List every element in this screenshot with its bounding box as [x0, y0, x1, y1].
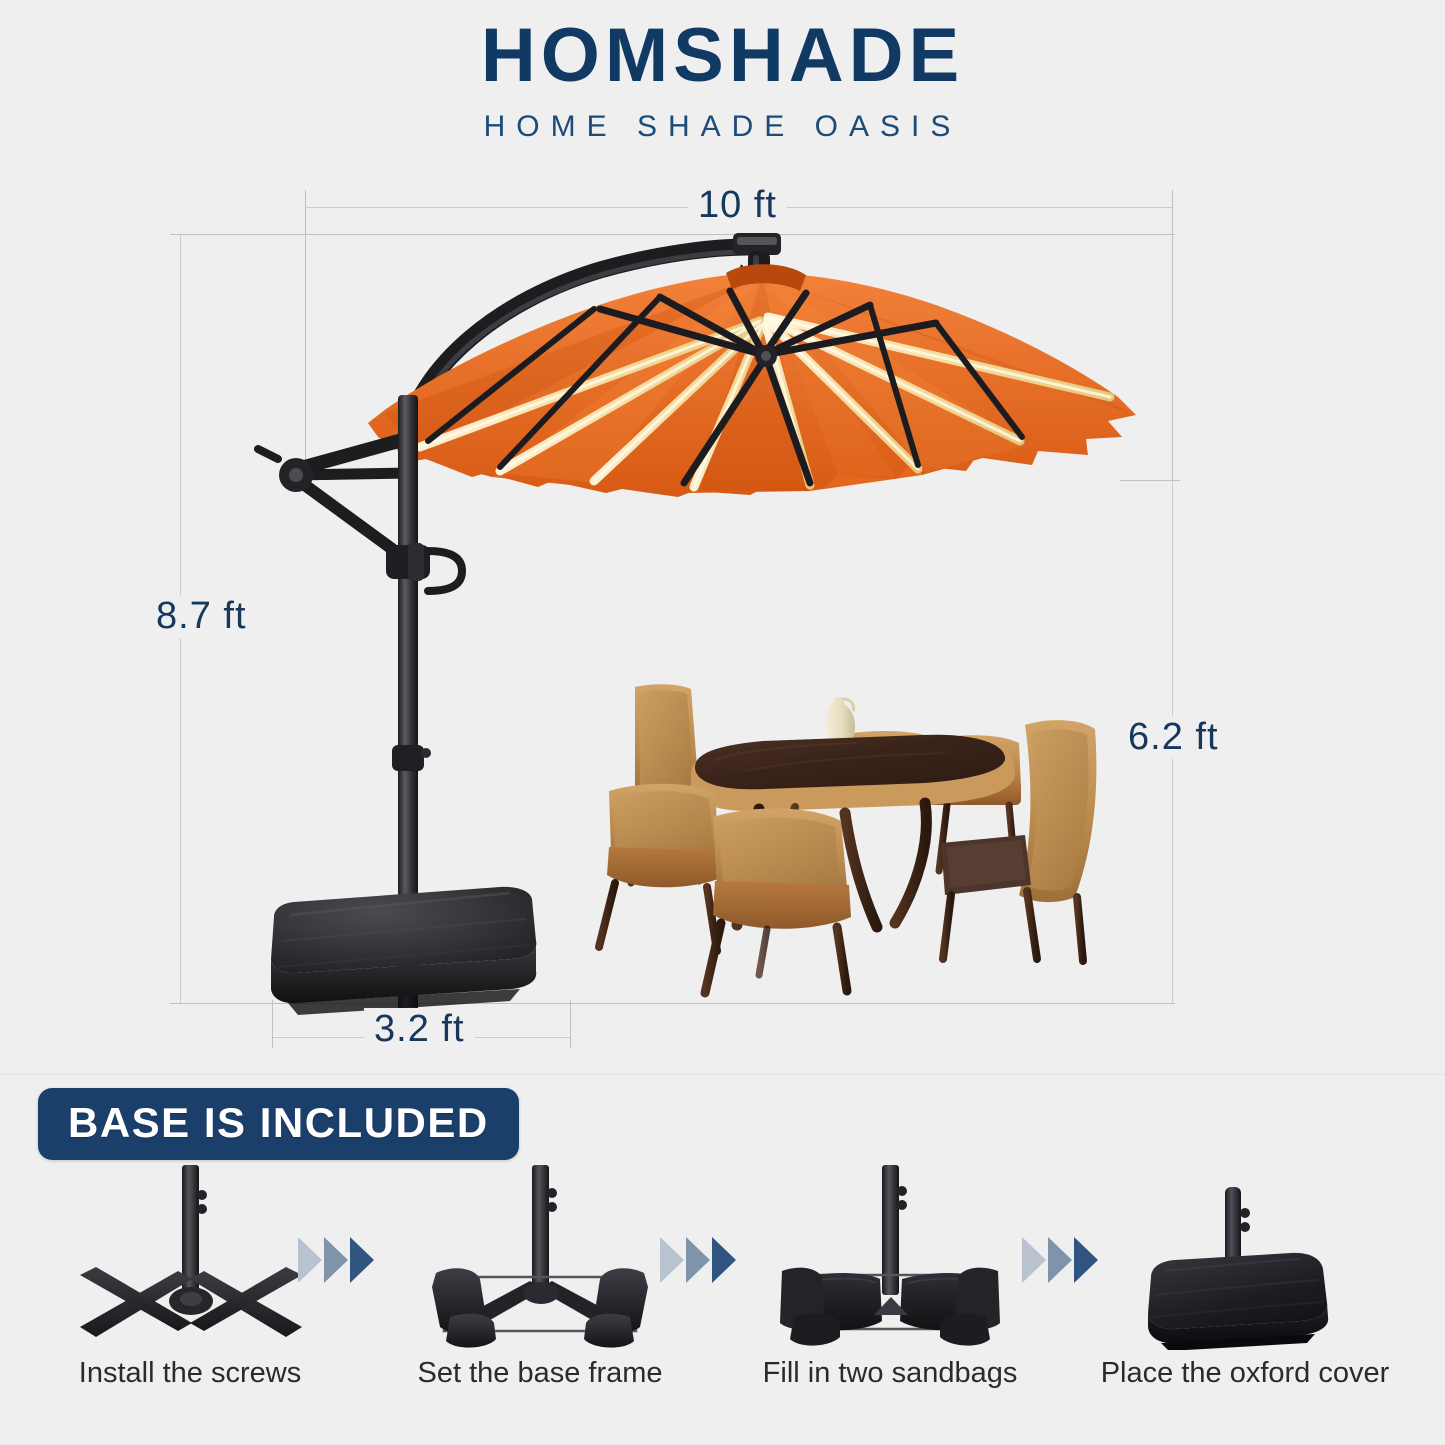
chair-front-center — [705, 808, 851, 993]
chevron-icon-c — [350, 1237, 374, 1283]
chevron-icon-a — [660, 1237, 684, 1283]
assembly-steps: Install the screws — [0, 1165, 1445, 1425]
dim-label-bottom: 3.2 ft — [364, 1008, 475, 1051]
chevron-icon-a — [1022, 1237, 1046, 1283]
umbrella-base — [271, 887, 562, 1015]
step-2: Set the base frame — [390, 1165, 690, 1425]
table-leg-right — [895, 803, 926, 923]
brand-tagline: HOME SHADE OASIS — [0, 110, 1445, 144]
step-3-label: Fill in two sandbags — [740, 1357, 1040, 1390]
base-frame-assembled-icon — [390, 1165, 690, 1350]
chair-front-left — [599, 784, 723, 951]
umbrella-height-collar — [392, 745, 431, 771]
oxford-cover-icon — [1095, 1165, 1395, 1350]
step-2-corner-bl — [446, 1314, 496, 1348]
step-3-art — [740, 1165, 1040, 1350]
step-1-label: Install the screws — [40, 1357, 340, 1390]
step-2-label: Set the base frame — [390, 1357, 690, 1390]
product-infographic: HOMSHADE HOME SHADE OASIS — [0, 0, 1445, 1445]
base-included-badge: BASE IS INCLUDED — [38, 1088, 519, 1160]
brand-name: HOMSHADE — [0, 18, 1445, 94]
chevron-icon-b — [324, 1237, 348, 1283]
step-4-label: Place the oxford cover — [1095, 1357, 1395, 1390]
dining-set-svg — [595, 675, 1155, 1005]
brand-header: HOMSHADE HOME SHADE OASIS — [0, 18, 1445, 144]
section-divider — [0, 1074, 1445, 1075]
chevron-icon-c — [712, 1237, 736, 1283]
dim-label-top: 10 ft — [688, 184, 787, 227]
step-2-art — [390, 1165, 690, 1350]
cross-base-frame-icon — [40, 1165, 340, 1350]
step-3: Fill in two sandbags — [740, 1165, 1040, 1425]
base-included-label: BASE IS INCLUDED — [68, 1102, 489, 1144]
step-2-corner-br — [584, 1314, 634, 1348]
dim-label-right: 6.2 ft — [1118, 716, 1229, 759]
outdoor-dining-set-illustration — [595, 675, 1155, 1005]
sandbags-icon — [740, 1165, 1040, 1350]
step-4-art — [1095, 1165, 1395, 1350]
step-1-pole — [182, 1165, 199, 1293]
chevron-icon-b — [1048, 1237, 1072, 1283]
dim-label-left: 8.7 ft — [146, 595, 257, 638]
chevron-icon-b — [686, 1237, 710, 1283]
step-1-art — [40, 1165, 340, 1350]
chevron-icon-a — [298, 1237, 322, 1283]
step-1: Install the screws — [40, 1165, 340, 1425]
step-4: Place the oxford cover — [1095, 1165, 1395, 1425]
umbrella-crank-handle — [386, 543, 462, 591]
